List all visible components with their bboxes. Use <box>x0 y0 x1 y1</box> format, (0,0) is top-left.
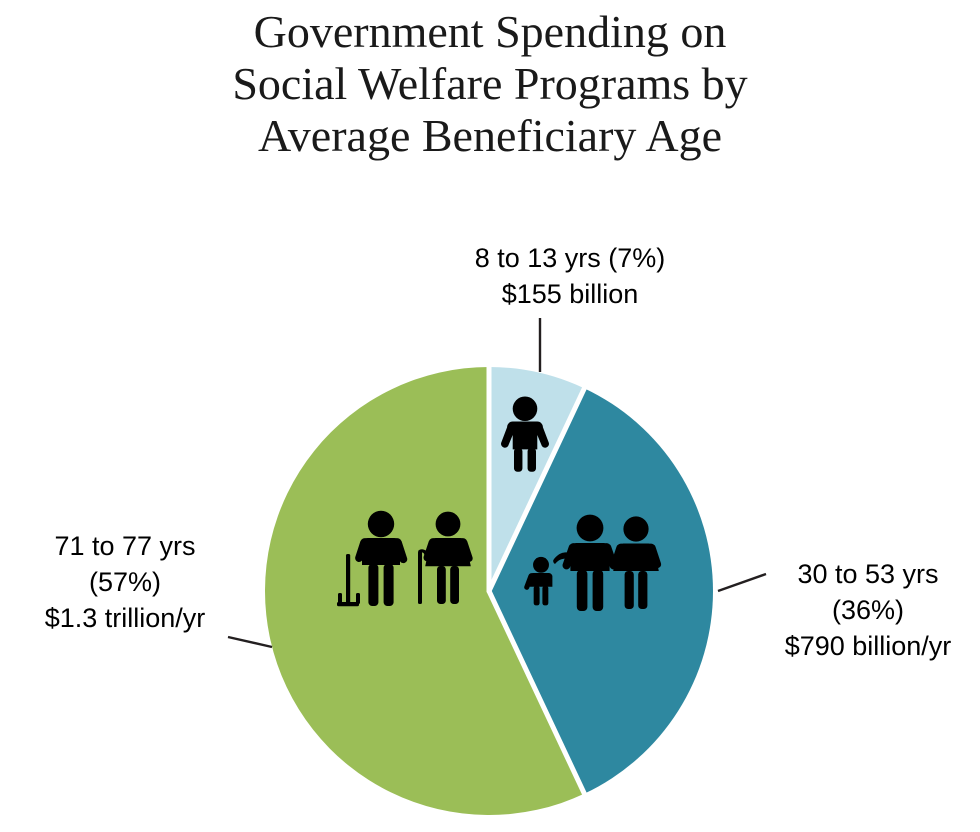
callout-label-adult: 30 to 53 yrs (36%) $790 billion/yr <box>756 556 980 664</box>
leader-line-senior <box>228 637 272 647</box>
chart-canvas: Government Spending on Social Welfare Pr… <box>0 0 980 832</box>
callout-label-senior: 71 to 77 yrs (57%) $1.3 trillion/yr <box>6 528 244 636</box>
pie-chart <box>0 0 980 832</box>
callout-label-child: 8 to 13 yrs (7%) $155 billion <box>410 240 730 312</box>
